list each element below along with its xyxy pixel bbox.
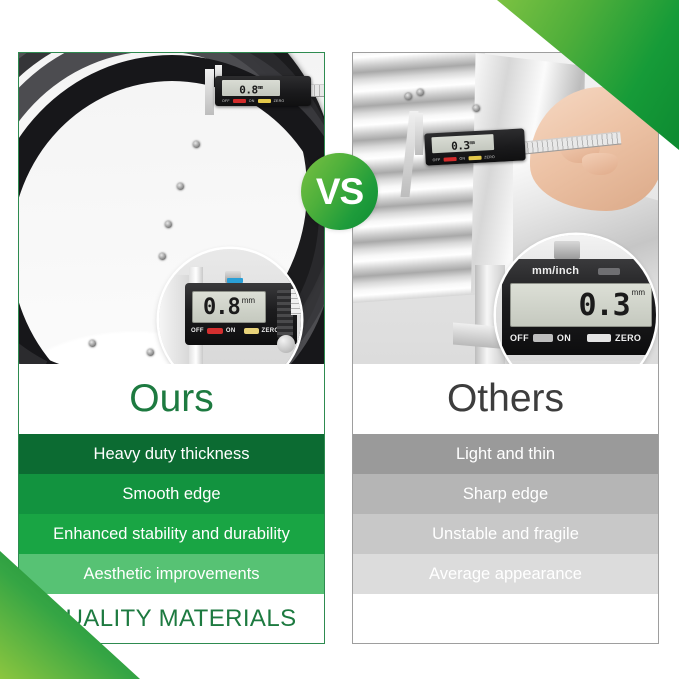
trim-clip-icon: [177, 183, 184, 190]
panel-heading-others: Others: [353, 364, 658, 434]
caliper-button-row-others: OFF ON ZERO: [433, 155, 496, 162]
feature-band: Unstable and fragile: [353, 514, 658, 554]
caliper-button-row-ours: OFF ON ZERO: [222, 99, 284, 103]
product-photo-ours: 0.8mm OFF ON ZERO 0.8 mm OF: [19, 53, 324, 364]
magnified-button-row-ours: OFF ON ZERO: [191, 328, 279, 334]
magnified-caliper-body-others: mm/inch 0.3 mm OFF ON ZERO: [502, 259, 656, 355]
magnified-foreground-others: [496, 361, 656, 364]
feature-band: Average appearance: [353, 554, 658, 594]
feature-band: Light and thin: [353, 434, 658, 474]
caliper-upper-jaw-ours: [205, 69, 214, 115]
trim-clip-icon: [193, 141, 200, 148]
magnified-scale-rail-ours: [291, 289, 301, 315]
comparison-panel-ours: 0.8mm OFF ON ZERO 0.8 mm OF: [18, 52, 325, 644]
caliper-brand-label: mm/inch: [532, 265, 579, 277]
feature-list-others: Light and thin Sharp edge Unstable and f…: [353, 434, 658, 594]
caliper-power-switch-icon: [207, 328, 223, 334]
feature-band: Heavy duty thickness: [19, 434, 324, 474]
caliper-zero-button-icon: [244, 328, 259, 334]
panel-bolt-icon: [473, 105, 480, 112]
panel-heading-ours: Ours: [19, 364, 324, 434]
panel-footer-others: [353, 594, 658, 643]
caliper-power-switch-icon: [233, 99, 246, 103]
magnified-button-row-others: OFF ON ZERO: [510, 333, 641, 343]
vs-badge: VS: [301, 153, 378, 230]
product-photo-others: 0.3mm OFF ON ZERO mm/inch 0.3 mm: [353, 53, 658, 364]
digital-caliper-others: 0.3mm OFF ON ZERO: [424, 128, 526, 165]
feature-band: Enhanced stability and durability: [19, 514, 324, 554]
caliper-zero-button-icon: [258, 99, 271, 103]
trim-clip-icon: [147, 349, 154, 356]
magnified-knob-ours: [277, 335, 295, 353]
feature-band: Aesthetic improvements: [19, 554, 324, 594]
panel-bolt-icon: [417, 89, 424, 96]
caliper-zero-button-icon: [587, 334, 611, 342]
panel-bolt-icon: [405, 93, 412, 100]
magnified-thumbscrew-others: [554, 241, 580, 259]
trim-clip-icon: [89, 340, 96, 347]
caliper-lower-jaw-others: [415, 113, 423, 155]
magnified-display-ours: 0.8 mm: [192, 291, 266, 323]
caliper-display-ours: 0.8mm: [222, 80, 280, 96]
caliper-power-switch-icon: [533, 334, 553, 342]
caliper-blue-accent-icon: [227, 278, 243, 283]
caliper-display-others: 0.3mm: [431, 134, 494, 153]
magnified-detail-others: mm/inch 0.3 mm OFF ON ZERO: [496, 235, 656, 364]
comparison-panel-others: 0.3mm OFF ON ZERO mm/inch 0.3 mm: [352, 52, 659, 644]
trim-clip-icon: [165, 221, 172, 228]
caliper-mode-button-icon: [598, 268, 620, 275]
feature-band: Sharp edge: [353, 474, 658, 514]
caliper-power-switch-icon: [443, 157, 456, 162]
trim-clip-icon: [159, 253, 166, 260]
feature-band: Smooth edge: [19, 474, 324, 514]
magnified-display-others: 0.3 mm: [510, 283, 652, 327]
digital-caliper-ours: 0.8mm OFF ON ZERO: [215, 76, 311, 106]
caliper-zero-button-icon: [468, 156, 481, 161]
feature-list-ours: Heavy duty thickness Smooth edge Enhance…: [19, 434, 324, 594]
